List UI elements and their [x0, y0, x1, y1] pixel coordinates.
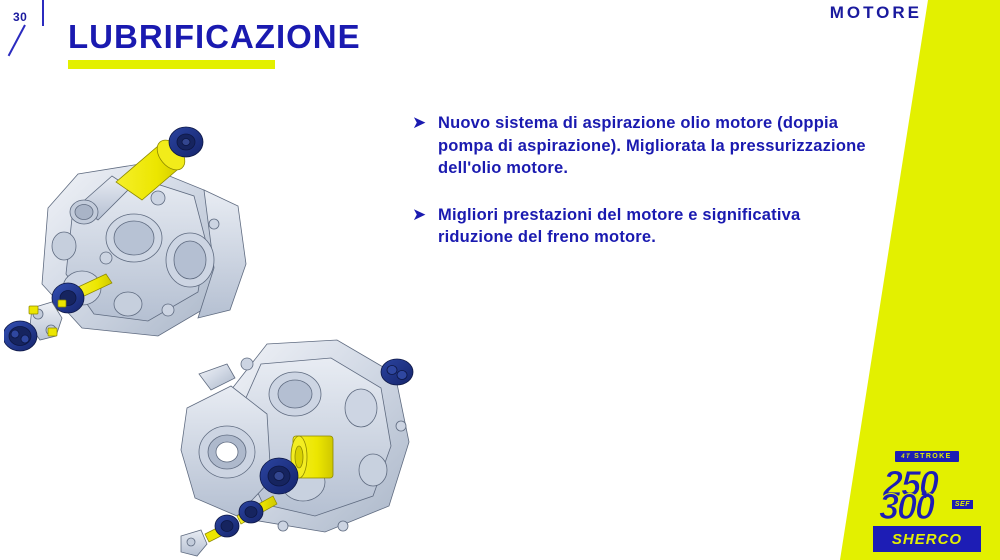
list-item-text: Migliori prestazioni del motore e signif… — [438, 204, 867, 249]
arrow-bullet-icon: ➤ — [412, 204, 438, 249]
page-title: LUBRIFICAZIONE — [68, 18, 361, 56]
slide-number-vertical-rule — [42, 0, 44, 26]
four-stroke-badge: 4T STROKE — [895, 451, 958, 462]
displacement-numbers: 250 + 300 SEF — [877, 464, 977, 522]
slide-number-diagonal-rule — [8, 25, 26, 57]
plus-icon: + — [921, 486, 930, 503]
engine-cad-image-bottom — [175, 330, 425, 560]
four-stroke-label: STROKE — [914, 453, 952, 460]
brand-banner: SHERCO — [873, 526, 981, 552]
arrow-bullet-icon: ➤ — [412, 112, 438, 180]
four-stroke-prefix: 4T — [901, 454, 911, 460]
bullet-list: ➤ Nuovo sistema di aspirazione olio moto… — [412, 112, 867, 273]
engine-exploded-parts-cluster — [4, 258, 154, 356]
model-sef-label: SEF — [952, 500, 973, 509]
sherco-logo-block: 4T STROKE 250 + 300 SEF SHERCO — [872, 451, 982, 552]
list-item: ➤ Nuovo sistema di aspirazione olio moto… — [412, 112, 867, 180]
section-header: MOTORE — [830, 3, 922, 23]
list-item: ➤ Migliori prestazioni del motore e sign… — [412, 204, 867, 249]
slide-canvas: 30 MOTORE LUBRIFICAZIONE ➤ Nuovo sistema… — [0, 0, 1000, 560]
title-underline — [68, 60, 275, 69]
slide-number: 30 — [13, 10, 27, 24]
brand-name: SHERCO — [892, 531, 962, 548]
slide-number-block: 30 — [0, 0, 70, 70]
list-item-text: Nuovo sistema di aspirazione olio motore… — [438, 112, 867, 180]
